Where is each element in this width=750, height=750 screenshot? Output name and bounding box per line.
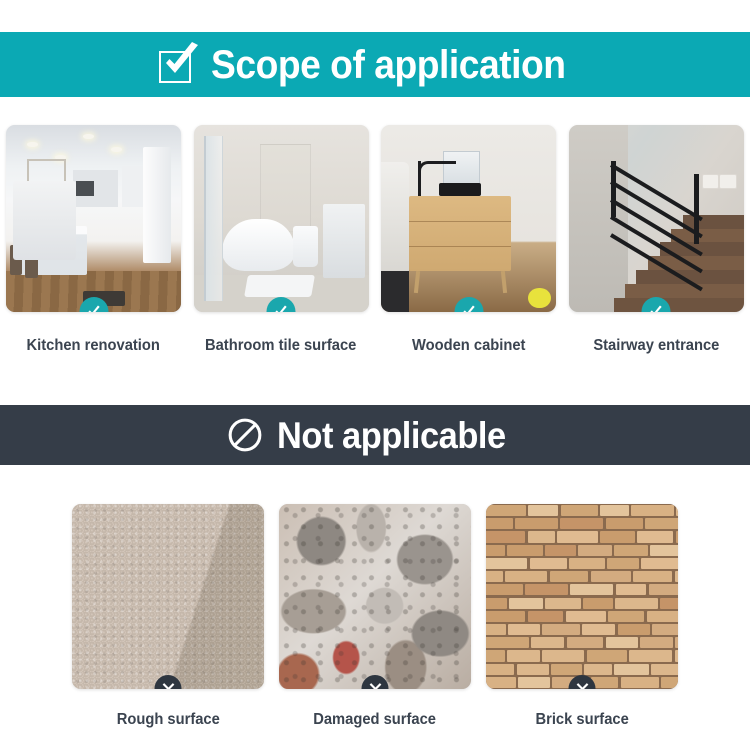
- scope-card-stairway-entrance[interactable]: Stairway entrance: [569, 125, 744, 360]
- cross-glyph: [367, 681, 383, 690]
- scope-card-kitchen-renovation[interactable]: Kitchen renovation: [6, 125, 181, 360]
- scope-card-bathroom-tile-surface[interactable]: Bathroom tile surface: [194, 125, 369, 360]
- not-applicable-banner-title: Not applicable: [277, 417, 506, 454]
- checkmark-glyph: [161, 42, 201, 82]
- not-applicable-card-rough-surface[interactable]: Rough surface: [72, 504, 264, 729]
- not-applicable-card-damaged-surface[interactable]: Damaged surface: [279, 504, 471, 729]
- not-applicable-card-label: Damaged surface: [314, 711, 437, 729]
- not-applicable-banner: Not applicable: [0, 405, 750, 465]
- scope-card-label: Stairway entrance: [593, 337, 719, 355]
- scope-card-label: Wooden cabinet: [412, 337, 525, 355]
- bathroom-interior-photo: [194, 125, 369, 312]
- scope-card-label: Bathroom tile surface: [205, 337, 356, 355]
- checkmark-glyph: [85, 303, 102, 312]
- damaged-peeling-paint-photo: [279, 504, 471, 689]
- scope-of-application-banner: Scope of application: [0, 32, 750, 97]
- not-applicable-card-brick-surface[interactable]: Brick surface: [486, 504, 678, 729]
- prohibition-icon: [227, 417, 263, 453]
- cross-glyph: [574, 681, 590, 690]
- kitchen-interior-photo: [6, 125, 181, 312]
- stairway-entrance-photo: [569, 125, 744, 312]
- not-applicable-card-label: Rough surface: [116, 711, 219, 729]
- not-applicable-card-label: Brick surface: [535, 711, 628, 729]
- wooden-cabinet-photo: [381, 125, 556, 312]
- scope-banner-title: Scope of application: [211, 45, 565, 85]
- brick-wall-surface-photo: [486, 504, 678, 689]
- checkmark-glyph: [460, 303, 477, 312]
- scope-card-wooden-cabinet[interactable]: Wooden cabinet: [381, 125, 556, 360]
- rough-stucco-surface-photo: [72, 504, 264, 689]
- checkmark-glyph: [648, 303, 665, 312]
- scope-cards-row: Kitchen renovation Bathroom tile surface: [0, 125, 750, 360]
- cross-glyph: [160, 681, 176, 690]
- scope-card-label: Kitchen renovation: [27, 337, 160, 355]
- checkbox-checked-icon: [157, 45, 197, 85]
- not-applicable-cards-row: Rough surface Damaged surface Brick surf…: [0, 504, 750, 729]
- checkmark-glyph: [273, 303, 290, 312]
